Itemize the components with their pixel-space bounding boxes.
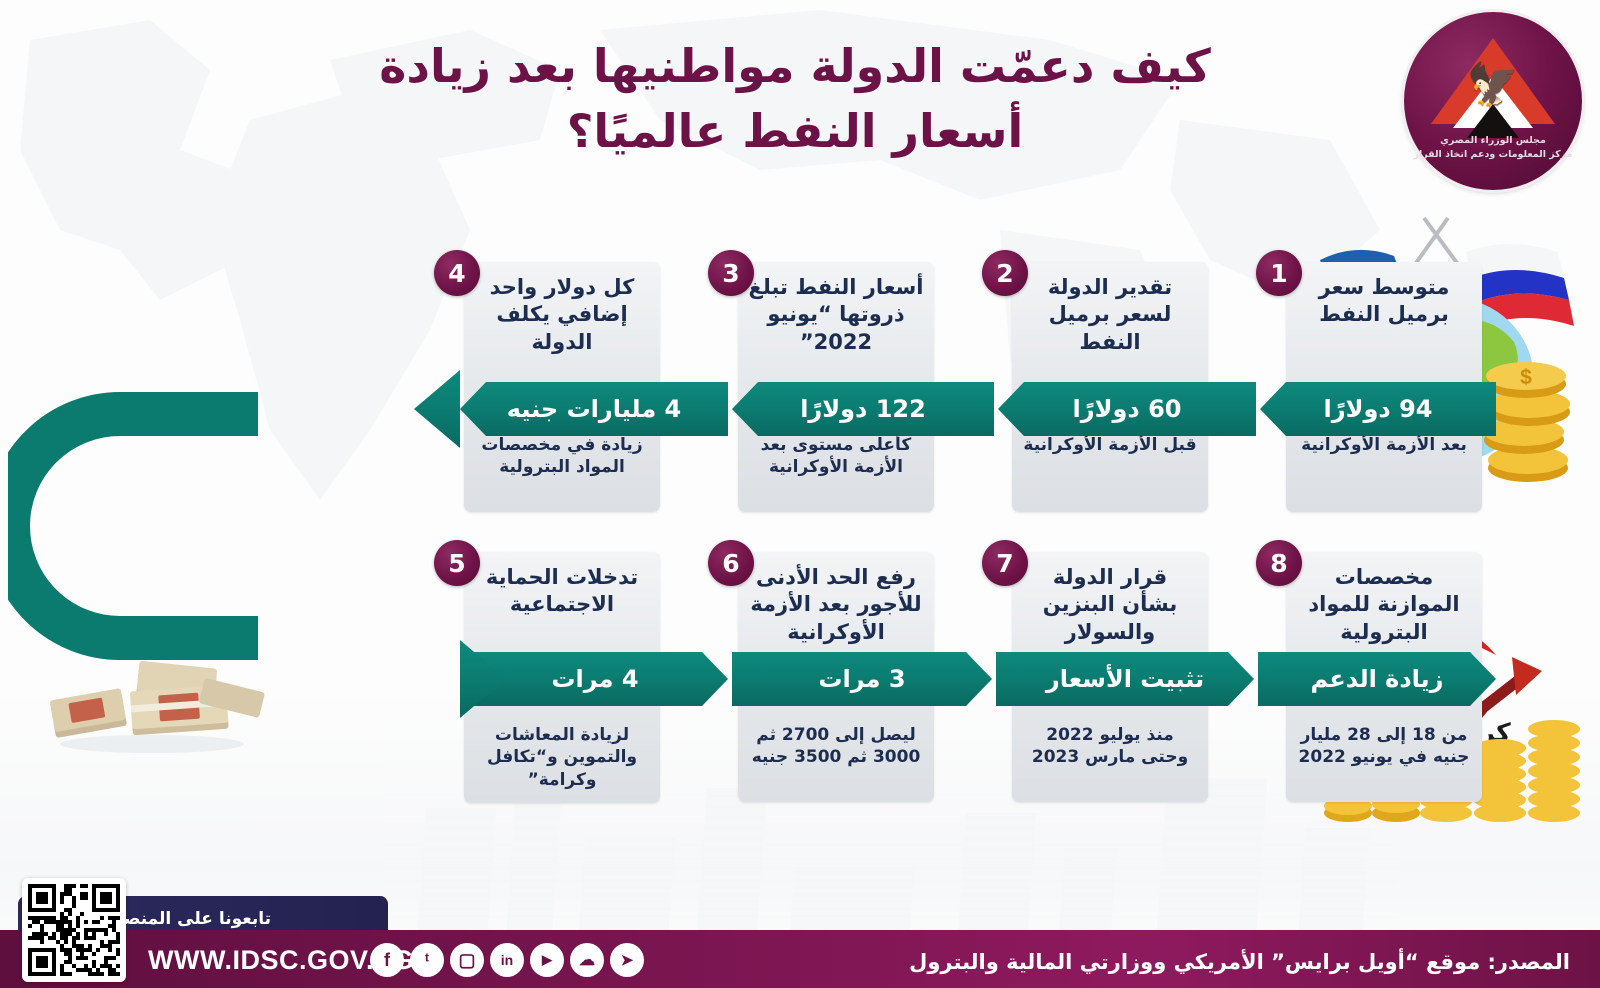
step-badge-1: 1: [1256, 250, 1302, 296]
facebook-icon[interactable]: f: [370, 943, 404, 977]
banknote-stacks-icon: [50, 661, 265, 753]
logo-text-line-1: مجلس الوزراء المصري: [1404, 134, 1582, 148]
title-line-1: كيف دعمّت الدولة مواطنيها بعد زيادة: [290, 34, 1300, 99]
step-6-title: قرار الدولة بشأن البنزين والسولار: [1012, 552, 1208, 660]
step-7-title: رفع الحد الأدنى للأجور بعد الأزمة الأوكر…: [738, 552, 934, 660]
step-badge-7: 7: [982, 540, 1028, 586]
youtube-icon[interactable]: ▶: [530, 943, 564, 977]
uturn-connector-arrow: [8, 378, 258, 678]
top-row-band-1: 94 دولارًا: [1260, 382, 1496, 436]
idsc-logo: 🦅 مجلس الوزراء المصري مركز المعلومات ودع…: [1404, 12, 1582, 190]
step-4-title: كل دولار واحد إضافي يكلف الدولة: [464, 262, 660, 370]
header: كيف دعمّت الدولة مواطنيها بعد زيادة أسعا…: [0, 0, 1600, 205]
step-3-title: أسعار النفط تبلغ ذروتها “يونيو 2022”: [738, 262, 934, 370]
step-7-note: ليصل إلى 2700 ثم 3000 ثم 3500 جنيه: [738, 712, 934, 802]
step-badge-6: 6: [708, 540, 754, 586]
top-row-band-4: 4 مليارات جنيه: [460, 382, 728, 436]
money-stacks-illustration: [40, 640, 270, 760]
step-2-title: تقدير الدولة لسعر برميل النفط: [1012, 262, 1208, 370]
twitter-icon[interactable]: ᵗ: [410, 943, 444, 977]
bottom-row-band-6: تثبيت الأسعار: [996, 652, 1254, 706]
step-badge-2: 2: [982, 250, 1028, 296]
title-line-2: أسعار النفط عالميًا؟: [290, 99, 1300, 164]
step-6-note: منذ يوليو 2022 وحتى مارس 2023: [1012, 712, 1208, 802]
step-badge-4: 4: [434, 250, 480, 296]
social-links: f ᵗ ▢ in ▶ ☁ ➤: [370, 943, 644, 977]
logo-triangle-black: [1467, 104, 1519, 138]
footer: تابعونا على المنصات الرقمية WWW.IDSC.GOV…: [0, 898, 1600, 988]
step-badge-3: 3: [708, 250, 754, 296]
top-row-band-3: 122 دولارًا: [732, 382, 994, 436]
step-badge-8: 8: [1256, 540, 1302, 586]
bottom-row-band-7: 3 مرات: [732, 652, 992, 706]
bottom-row-band-5: زيادة الدعم: [1258, 652, 1496, 706]
step-5-title: مخصصات الموازنة للمواد البترولية: [1286, 552, 1482, 660]
page-title: كيف دعمّت الدولة مواطنيها بعد زيادة أسعا…: [290, 34, 1300, 165]
logo-text: مجلس الوزراء المصري مركز المعلومات ودعم …: [1404, 134, 1582, 163]
source-note: المصدر: موقع “أويل برايس” الأمريكي ووزار…: [909, 950, 1570, 974]
step-8-note: لزيادة المعاشات والتموين و“تكافل وكرامة”: [464, 712, 660, 803]
step-8-title: تدخلات الحماية الاجتماعية: [464, 552, 660, 660]
timeline-flow: متوسط سعر برميل النفط بعد الأزمة الأوكرا…: [0, 200, 1600, 850]
step-5-note: من 18 إلى 28 مليار جنيه في يونيو 2022: [1286, 712, 1482, 802]
step-1-title: متوسط سعر برميل النفط: [1286, 262, 1482, 370]
linkedin-icon[interactable]: in: [490, 943, 524, 977]
qr-code[interactable]: [22, 878, 126, 982]
step-badge-5: 5: [434, 540, 480, 586]
logo-text-line-2: مركز المعلومات ودعم اتخاذ القرار: [1404, 148, 1582, 162]
soundcloud-icon[interactable]: ☁: [570, 943, 604, 977]
top-row-band-2: 60 دولارًا: [998, 382, 1256, 436]
telegram-icon[interactable]: ➤: [610, 943, 644, 977]
eagle-icon: 🦅: [1467, 64, 1519, 106]
instagram-icon[interactable]: ▢: [450, 943, 484, 977]
top-row-arrowhead: [414, 370, 460, 448]
